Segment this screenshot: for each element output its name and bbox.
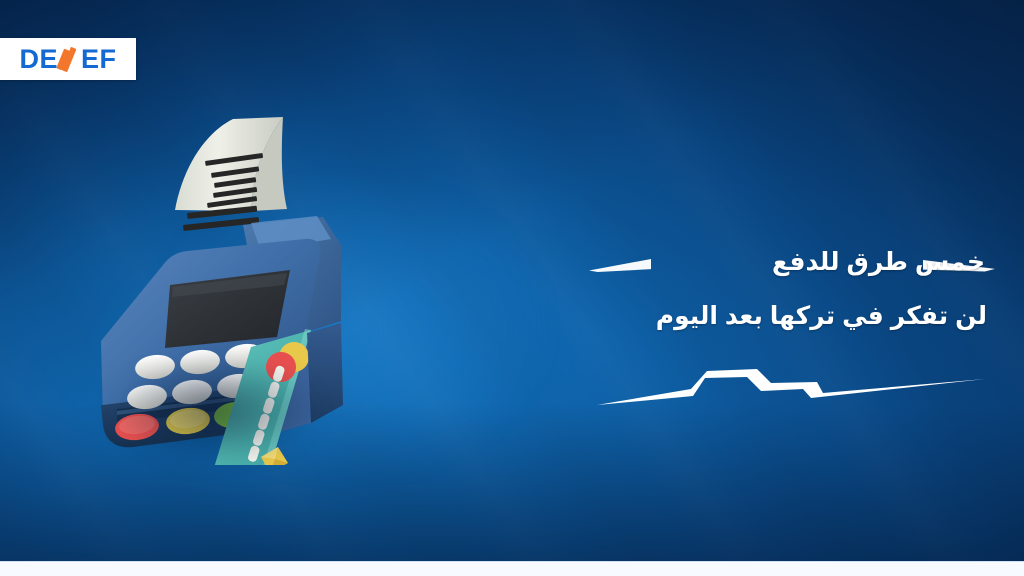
brand-logo[interactable]: DE EF bbox=[0, 38, 136, 80]
bottom-strip bbox=[0, 561, 1024, 576]
headline-row: خمس طرق للدفع bbox=[575, 243, 995, 283]
brand-logo-prefix: DE bbox=[19, 46, 58, 73]
headline-text: خمس طرق للدفع bbox=[772, 243, 985, 281]
ribbon-swoosh-icon bbox=[595, 365, 987, 409]
brand-logo-suffix: EF bbox=[81, 46, 117, 73]
pos-terminal-shadow bbox=[65, 335, 365, 485]
subline-text: لن تفكر في تركها بعد اليوم bbox=[656, 297, 987, 335]
pos-terminal-illustration bbox=[55, 105, 385, 465]
banner-canvas: DE EF bbox=[0, 0, 1024, 576]
receipt-paper bbox=[175, 117, 287, 231]
brand-logo-text: DE EF bbox=[19, 46, 116, 73]
brand-logo-x-icon bbox=[59, 47, 80, 72]
wedge-arrow-left-icon bbox=[589, 259, 651, 272]
promo-copy: خمس طرق للدفع لن تفكر في تركها بعد اليوم bbox=[575, 243, 995, 283]
